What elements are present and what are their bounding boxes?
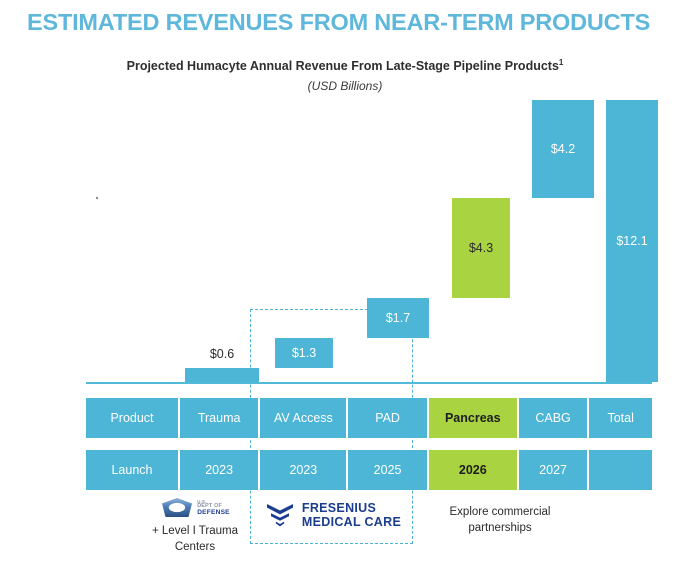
dod-wordmark: U.S. DEPT OF DEFENSE — [197, 500, 230, 516]
fresenius-wordmark-line1: FRESENIUS — [302, 501, 401, 515]
table-cell: 2023 — [260, 450, 346, 490]
table-cell — [589, 450, 652, 490]
bar-value-label: $4.3 — [452, 241, 510, 255]
table-cell: Product — [86, 398, 178, 438]
table-cell: 2025 — [348, 450, 426, 490]
dod-partner-block: U.S. DEPT OF DEFENSE + Level I Trauma Ce… — [140, 496, 250, 555]
table-cell: 2027 — [519, 450, 588, 490]
table-cell: Trauma — [180, 398, 258, 438]
fresenius-chevron-icon — [265, 500, 295, 530]
bar-cabg: $4.2 — [532, 100, 594, 198]
table-cell: PAD — [348, 398, 426, 438]
table-cell: Launch — [86, 450, 178, 490]
fresenius-partner-block: FRESENIUS MEDICAL CARE — [258, 500, 408, 530]
bar-pad: $1.7 — [367, 298, 429, 338]
speck-artifact — [96, 197, 98, 199]
table-cell: Pancreas — [429, 398, 517, 438]
bar-value-label: $1.3 — [275, 346, 333, 360]
bar-av-access: $1.3 — [275, 338, 333, 368]
dod-caption: + Level I Trauma Centers — [140, 524, 250, 555]
fresenius-wordmark: FRESENIUS MEDICAL CARE — [302, 501, 401, 530]
explore-partnerships-caption: Explore commercial partnerships — [420, 504, 580, 536]
bar-value-label: $1.7 — [367, 311, 429, 325]
product-row: ProductTraumaAV AccessPADPancreasCABGTot… — [86, 398, 652, 438]
fresenius-wordmark-line2: MEDICAL CARE — [302, 515, 401, 529]
footer: U.S. DEPT OF DEFENSE + Level I Trauma Ce… — [0, 494, 690, 562]
bar-total: $12.1 — [606, 100, 658, 382]
waterfall-chart: $0.6$1.3$1.7$4.3$4.2$12.1 — [0, 0, 690, 400]
defense-shield-icon — [160, 497, 194, 519]
dod-wordmark-line3: DEFENSE — [197, 510, 230, 517]
bar-value-label: $0.6 — [185, 347, 259, 361]
bar-pancreas: $4.3 — [452, 198, 510, 298]
table-cell: Total — [589, 398, 652, 438]
table-cell: 2026 — [429, 450, 517, 490]
table-cell: 2023 — [180, 450, 258, 490]
launch-row: Launch20232023202520262027 — [86, 450, 652, 490]
chart-baseline — [86, 382, 652, 384]
dod-logo: U.S. DEPT OF DEFENSE — [140, 496, 250, 520]
bar-value-label: $4.2 — [532, 142, 594, 156]
table-cell: CABG — [519, 398, 588, 438]
bar-trauma: $0.6 — [185, 368, 259, 382]
table-cell: AV Access — [260, 398, 346, 438]
bar-value-label: $12.1 — [606, 234, 658, 248]
